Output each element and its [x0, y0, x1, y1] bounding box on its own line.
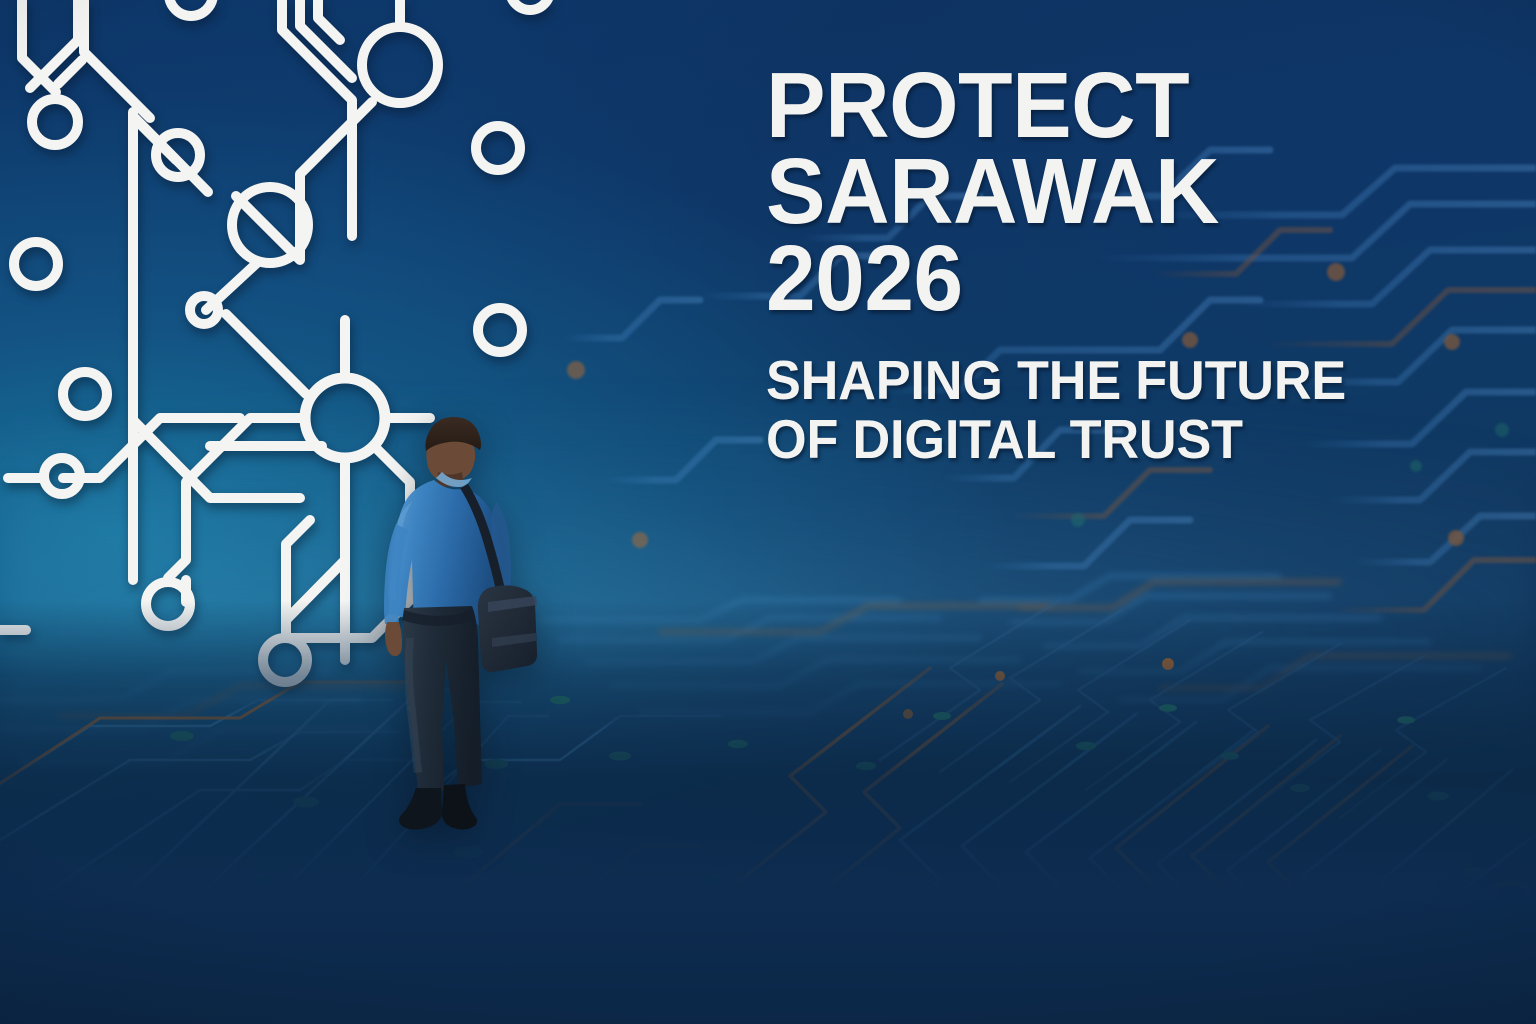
poster-canvas: PROTECT SARAWAK 2026 SHAPING THE FUTURE …: [0, 0, 1536, 1024]
vignette-overlay: [0, 0, 1536, 1024]
